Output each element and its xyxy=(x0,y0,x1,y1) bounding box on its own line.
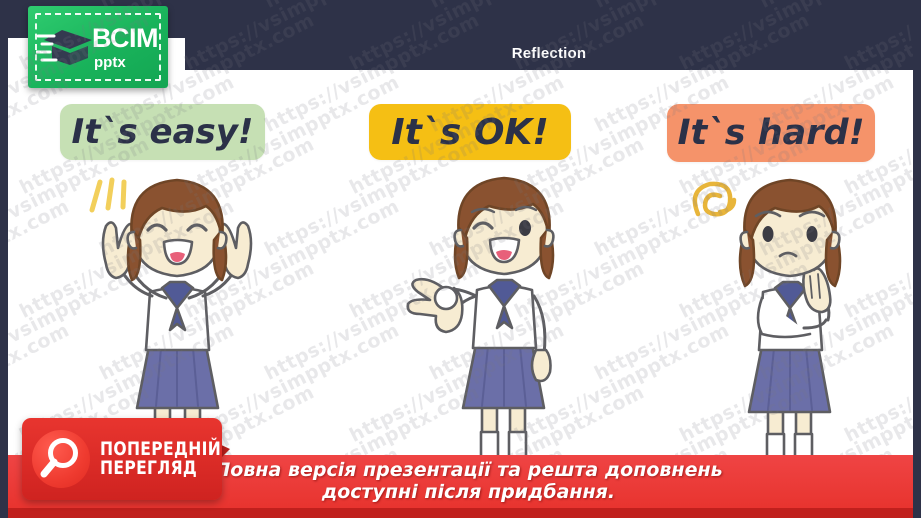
vsimpptx-logo[interactable]: ВСІМ pptx xyxy=(28,6,168,88)
option-chip-easy[interactable]: It`s easy! xyxy=(60,104,265,160)
option-label-ok: It`s OK! xyxy=(391,112,548,153)
option-label-easy: It`s easy! xyxy=(72,112,254,152)
figure-girl-ok-hand-sign xyxy=(386,168,608,468)
option-chip-ok[interactable]: It`s OK! xyxy=(369,104,571,160)
logo-sub: pptx xyxy=(94,55,158,70)
graduation-cap-icon xyxy=(36,22,94,72)
page-title: Reflection xyxy=(512,45,587,62)
preview-badge-line-2: ПЕРЕГЛЯД xyxy=(100,459,221,478)
option-chip-hard[interactable]: It`s hard! xyxy=(667,104,875,162)
magnifier-icon xyxy=(32,430,90,488)
figure-girl-hand-on-cheek xyxy=(676,168,898,468)
watermark-text: https://vsimpptx.com xyxy=(8,195,73,323)
banner-line-1: Повна версія презентації та решта доповн… xyxy=(214,460,722,481)
window-right-edge xyxy=(913,0,921,518)
slide-title-bar: Reflection xyxy=(185,36,913,70)
banner-bottom-strip xyxy=(8,508,913,518)
window-left-edge xyxy=(0,0,8,518)
option-label-hard: It`s hard! xyxy=(677,113,864,153)
banner-line-2: доступні після придбання. xyxy=(322,482,615,503)
preview-badge: ПОПЕРЕДНІЙ ПЕРЕГЛЯД xyxy=(22,418,222,500)
logo-brand: ВСІМ xyxy=(92,25,158,52)
